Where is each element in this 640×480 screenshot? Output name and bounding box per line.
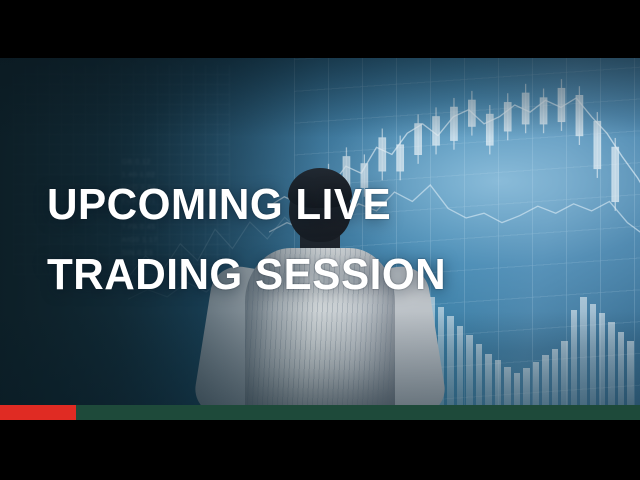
video-frame: GB 0.12 1.40 1.02 HYO 0.88 EUR 1.21 0.00… bbox=[0, 0, 640, 480]
channel-name-bar: Live Trading with Doc bbox=[76, 405, 640, 420]
page-title: UPCOMING LIVE TRADING SESSION bbox=[47, 170, 446, 310]
letterbox-bottom bbox=[0, 420, 640, 480]
letterbox-top bbox=[0, 0, 640, 58]
title-line-2: TRADING SESSION bbox=[47, 240, 446, 310]
lower-third-banner: Live Trading with Doc bbox=[0, 405, 640, 420]
title-line-1: UPCOMING LIVE bbox=[47, 170, 446, 240]
background-photo: GB 0.12 1.40 1.02 HYO 0.88 EUR 1.21 0.00… bbox=[0, 58, 640, 420]
swiss-cross-icon bbox=[0, 405, 76, 420]
